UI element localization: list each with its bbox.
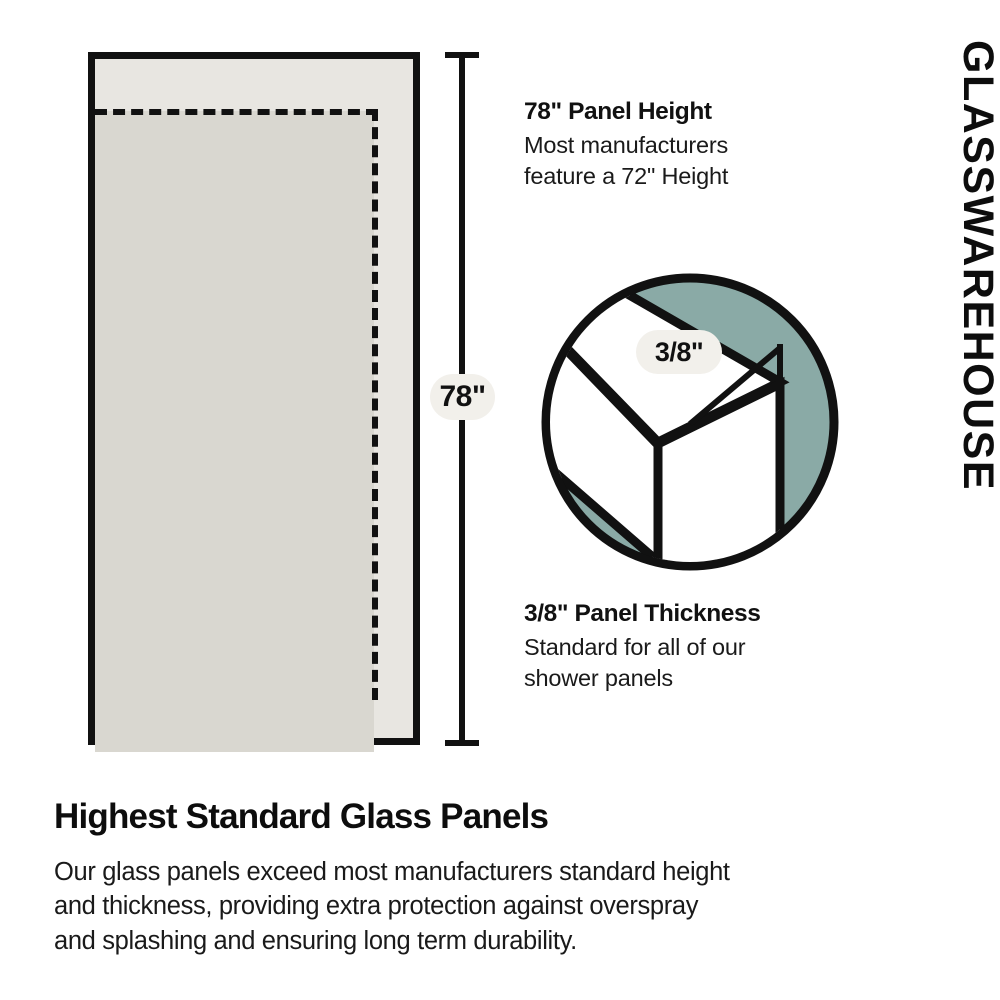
dimension-cap-bottom-icon: [445, 740, 479, 746]
callout-panel-height: 78" Panel Height Most manufacturers feat…: [524, 98, 854, 192]
callout-panel-height-title: 78" Panel Height: [524, 98, 854, 127]
callout-panel-height-body-line2: feature a 72" Height: [524, 161, 854, 192]
callout-panel-thickness: 3/8" Panel Thickness Standard for all of…: [524, 600, 854, 694]
callout-panel-thickness-title: 3/8" Panel Thickness: [524, 600, 854, 629]
panel-standard-height-dashed-line-horizontal: [95, 109, 378, 115]
footer-body-line2: and thickness, providing extra protectio…: [54, 889, 872, 924]
callout-panel-height-body-line1: Most manufacturers: [524, 130, 854, 161]
footer-headline: Highest Standard Glass Panels: [54, 798, 872, 837]
panel-thickness-inset-diagram: 3/8": [540, 272, 840, 572]
callout-panel-thickness-body-line2: shower panels: [524, 663, 854, 694]
isometric-glass-edge-illustration: [540, 272, 840, 572]
panel-inner-shaded-area: [95, 111, 374, 752]
footer-body-line3: and splashing and ensuring long term dur…: [54, 924, 872, 959]
thickness-dimension-badge: 3/8": [636, 330, 722, 374]
footer-text-block: Highest Standard Glass Panels Our glass …: [54, 798, 872, 959]
glass-panel-elevation: [88, 52, 420, 745]
infographic-canvas: 78" 78" Panel Height Most manufacturers …: [0, 0, 1000, 1000]
brand-wordmark: GLASSWAREHOUSE: [953, 40, 1000, 600]
height-dimension-badge: 78": [430, 374, 495, 420]
footer-body-line1: Our glass panels exceed most manufacture…: [54, 855, 872, 890]
panel-standard-width-dashed-line-vertical: [372, 109, 378, 700]
callout-panel-thickness-body-line1: Standard for all of our: [524, 632, 854, 663]
